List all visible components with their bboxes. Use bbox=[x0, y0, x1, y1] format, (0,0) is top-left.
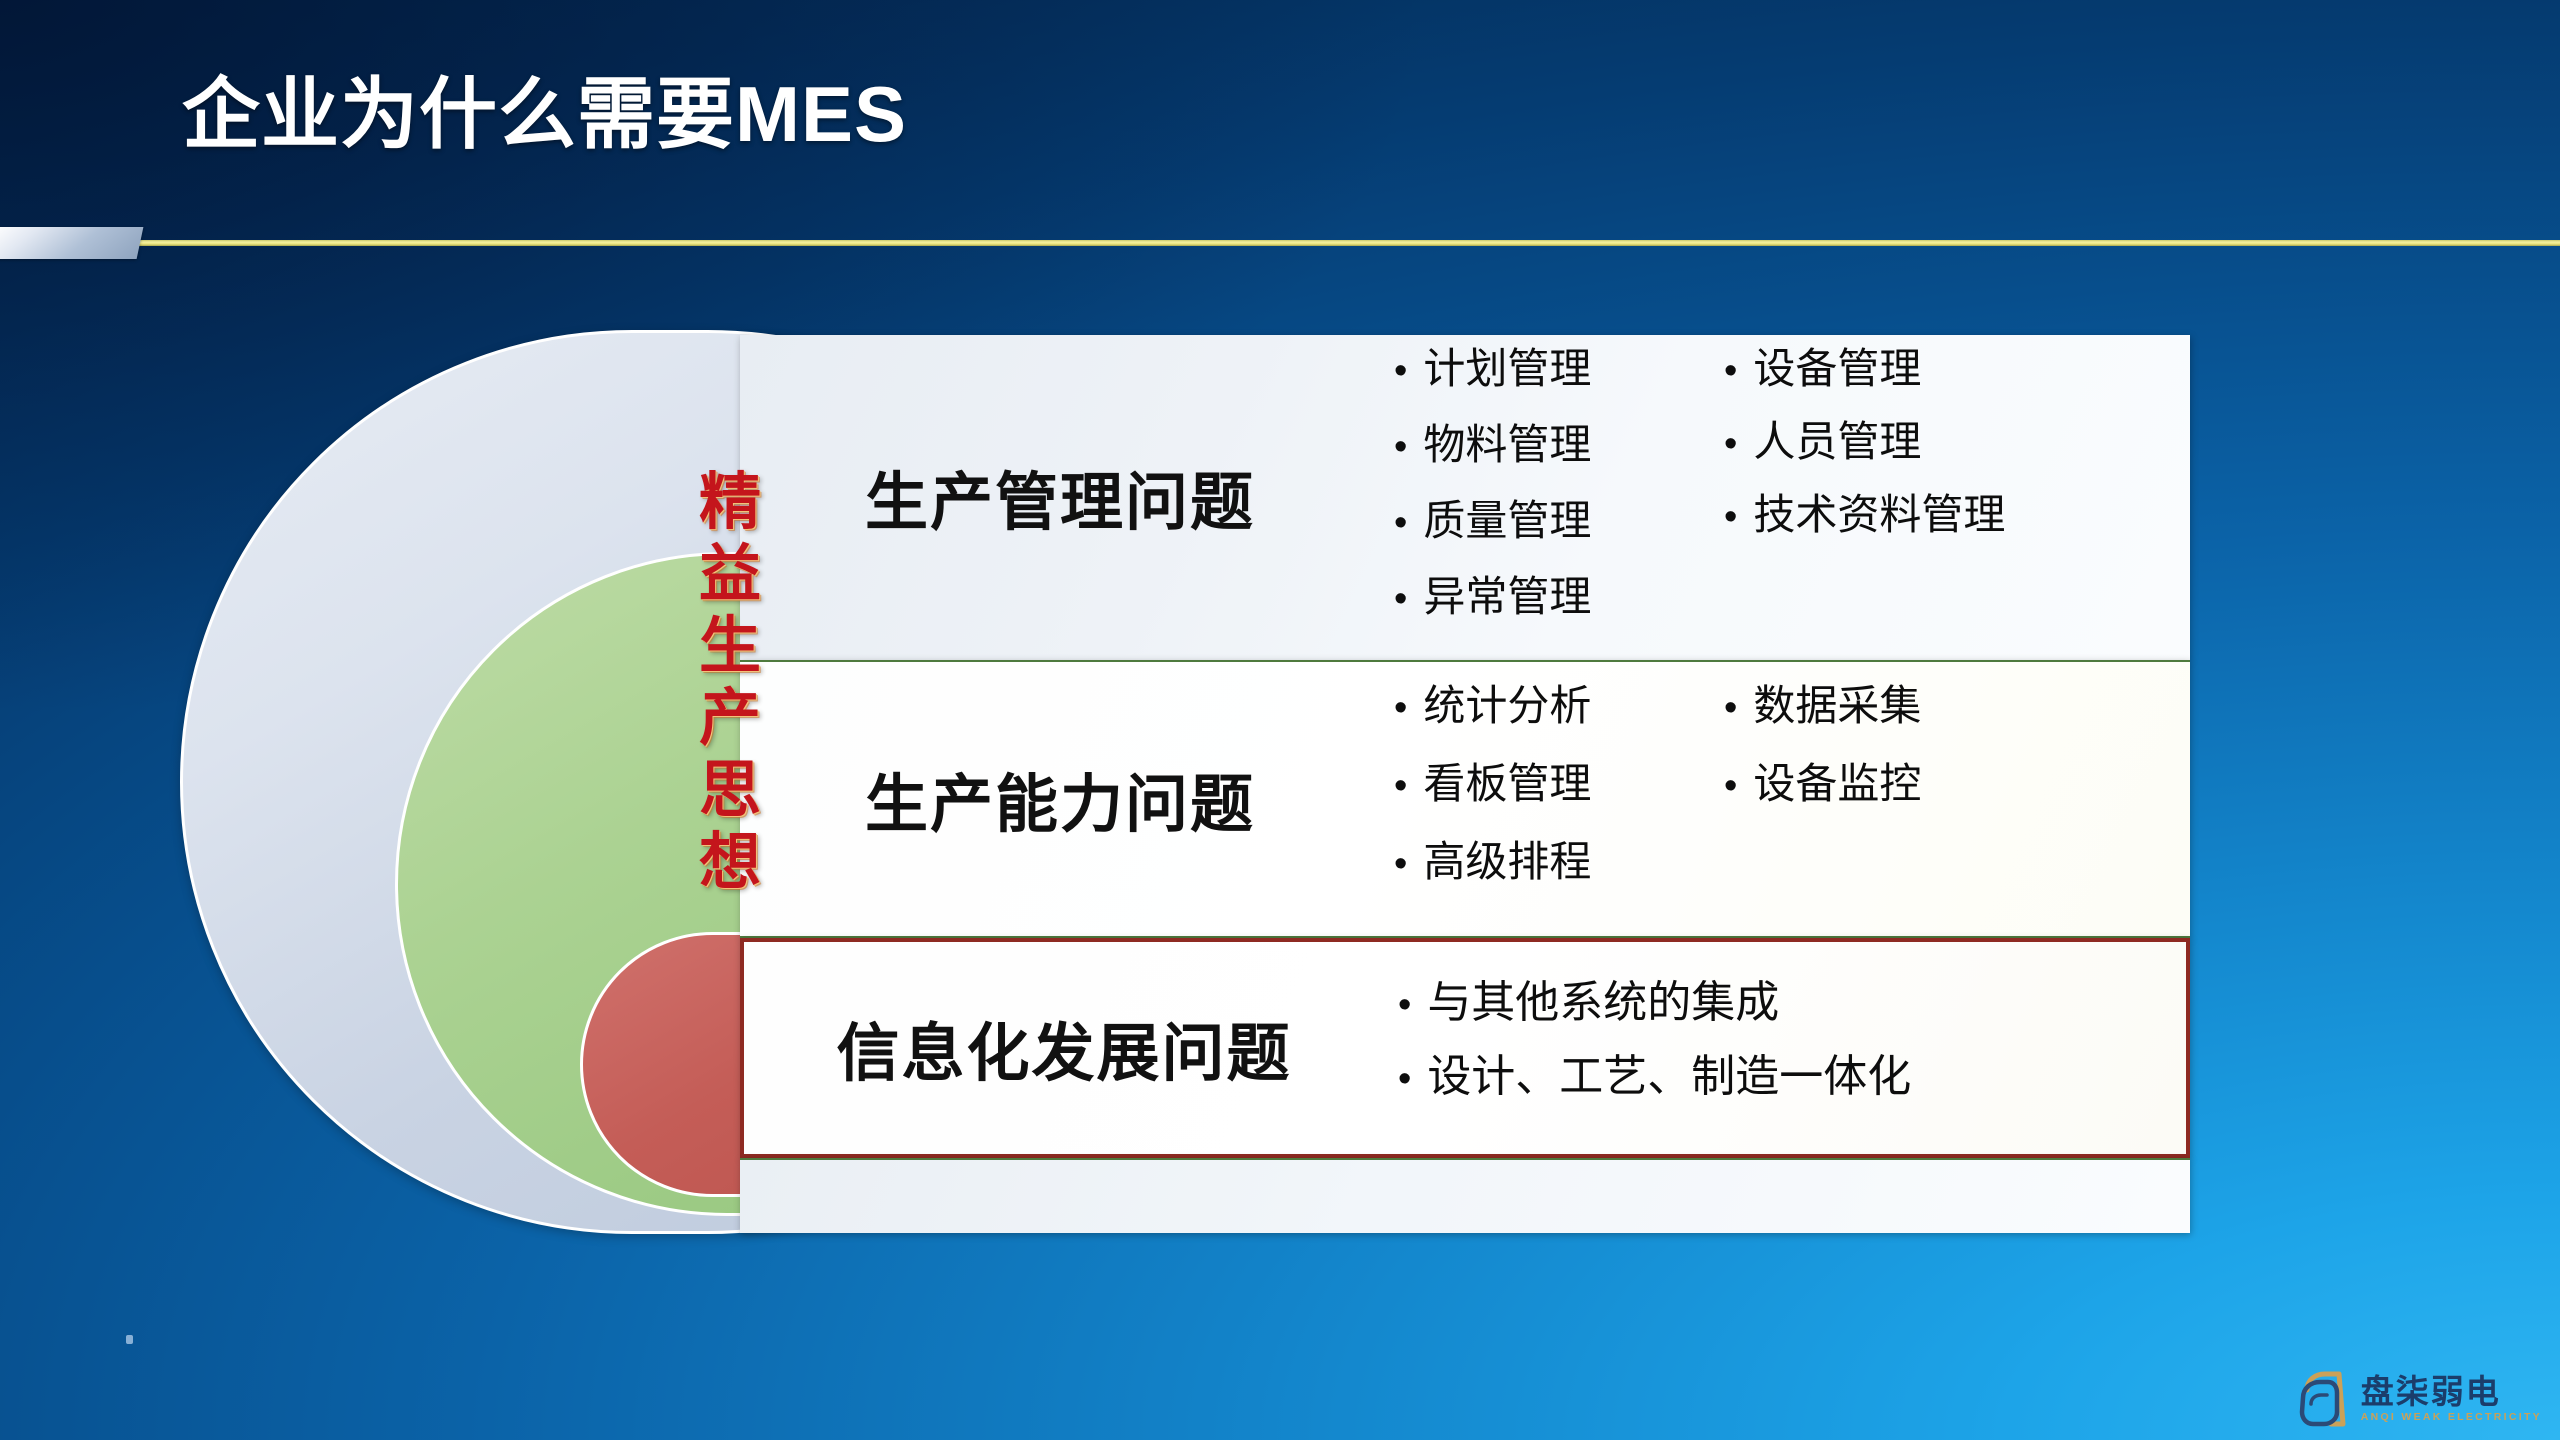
band-heading: 生产管理问题 bbox=[740, 452, 1380, 543]
list-item: • 数据采集 bbox=[1724, 685, 2164, 727]
list-item: • 计划管理 bbox=[1394, 348, 1724, 390]
list-item: • 与其他系统的集成 bbox=[1398, 981, 1911, 1025]
slogan-char: 精 bbox=[699, 472, 761, 534]
page-title: 企业为什么需要MES bbox=[182, 52, 907, 164]
band-item-column-left: • 与其他系统的集成 • 设计、工艺、制造一体化 bbox=[1398, 981, 1911, 1129]
bullet-icon: • bbox=[1724, 767, 1737, 805]
problem-band-stack: 生产管理问题 • 计划管理 • 物料管理 • 质量管理 bbox=[740, 335, 2190, 1233]
watermark-logo: 盘柒弱电 ANQI WEAK ELECTRICITY bbox=[2293, 1368, 2542, 1430]
list-item-label: 设计、工艺、制造一体化 bbox=[1427, 1055, 1911, 1099]
list-item-label: 技术资料管理 bbox=[1753, 494, 2005, 536]
list-item: • 人员管理 bbox=[1724, 421, 2164, 463]
problem-band-production-capacity[interactable]: 生产能力问题 • 统计分析 • 看板管理 • 高级排程 bbox=[740, 660, 2190, 938]
bullet-icon: • bbox=[1394, 689, 1407, 727]
lean-production-slogan: 精 益 生 产 思 想 bbox=[680, 472, 780, 894]
slogan-char: 益 bbox=[699, 544, 761, 606]
list-item: • 设计、工艺、制造一体化 bbox=[1398, 1055, 1911, 1099]
bullet-icon: • bbox=[1394, 352, 1407, 390]
mes-needs-diagram: 精 益 生 产 思 想 生产管理问题 • 计划管理 • 物料管理 bbox=[180, 330, 2190, 1240]
band-heading: 信息化发展问题 bbox=[744, 1003, 1384, 1094]
brand-name-en: ANQI WEAK ELECTRICITY bbox=[2361, 1412, 2542, 1423]
brand-text: 盘柒弱电 ANQI WEAK ELECTRICITY bbox=[2361, 1375, 2542, 1423]
list-item: • 异常管理 bbox=[1394, 576, 1724, 618]
divider-accent-block bbox=[0, 227, 143, 259]
band-heading: 生产能力问题 bbox=[740, 754, 1380, 845]
band-item-area: • 统计分析 • 看板管理 • 高级排程 • 数据采集 bbox=[1380, 679, 2190, 919]
list-item-label: 质量管理 bbox=[1423, 500, 1591, 542]
divider-line bbox=[120, 240, 2560, 246]
list-item: • 统计分析 bbox=[1394, 685, 1724, 727]
bullet-icon: • bbox=[1394, 504, 1407, 542]
list-item: • 设备监控 bbox=[1724, 763, 2164, 805]
bullet-icon: • bbox=[1398, 1060, 1411, 1098]
list-item: • 技术资料管理 bbox=[1724, 494, 2164, 536]
band-item-column-right: • 数据采集 • 设备监控 bbox=[1724, 685, 2164, 841]
slogan-char: 想 bbox=[699, 832, 761, 894]
list-item-label: 计划管理 bbox=[1423, 348, 1591, 390]
list-item: • 质量管理 bbox=[1394, 500, 1724, 542]
bullet-icon: • bbox=[1394, 845, 1407, 883]
bullet-icon: • bbox=[1724, 498, 1737, 536]
bullet-icon: • bbox=[1724, 352, 1737, 390]
list-item: • 看板管理 bbox=[1394, 763, 1724, 805]
stray-dot-artifact bbox=[126, 1335, 133, 1344]
list-item-label: 人员管理 bbox=[1753, 421, 1921, 463]
band-item-area: • 与其他系统的集成 • 设计、工艺、制造一体化 bbox=[1384, 967, 2186, 1129]
list-item-label: 数据采集 bbox=[1753, 685, 1921, 727]
problem-band-informatization[interactable]: 信息化发展问题 • 与其他系统的集成 • 设计、工艺、制造一体化 bbox=[740, 938, 2190, 1158]
list-item: • 高级排程 bbox=[1394, 841, 1724, 883]
list-item-label: 物料管理 bbox=[1423, 424, 1591, 466]
brand-name-cn: 盘柒弱电 bbox=[2361, 1375, 2542, 1408]
bullet-icon: • bbox=[1394, 428, 1407, 466]
bullet-icon: • bbox=[1724, 689, 1737, 727]
list-item-label: 设备监控 bbox=[1753, 763, 1921, 805]
band-item-column-right: • 设备管理 • 人员管理 • 技术资料管理 bbox=[1724, 348, 2164, 567]
band-item-area: • 计划管理 • 物料管理 • 质量管理 • 异常管理 bbox=[1380, 344, 2190, 652]
bullet-icon: • bbox=[1394, 580, 1407, 618]
slogan-char: 生 bbox=[699, 616, 761, 678]
bullet-icon: • bbox=[1394, 767, 1407, 805]
list-item-label: 与其他系统的集成 bbox=[1427, 981, 1779, 1025]
slogan-char: 产 bbox=[699, 688, 761, 750]
brand-mark-icon bbox=[2293, 1368, 2351, 1430]
list-item-label: 设备管理 bbox=[1753, 348, 1921, 390]
band-item-column-left: • 计划管理 • 物料管理 • 质量管理 • 异常管理 bbox=[1394, 348, 1724, 652]
title-divider bbox=[0, 222, 2560, 268]
slogan-char: 思 bbox=[699, 760, 761, 822]
band-footer-strip bbox=[740, 1158, 2190, 1233]
problem-band-production-management[interactable]: 生产管理问题 • 计划管理 • 物料管理 • 质量管理 bbox=[740, 335, 2190, 660]
band-item-column-left: • 统计分析 • 看板管理 • 高级排程 bbox=[1394, 685, 1724, 919]
list-item-label: 看板管理 bbox=[1423, 763, 1591, 805]
list-item-label: 统计分析 bbox=[1423, 685, 1591, 727]
list-item-label: 异常管理 bbox=[1423, 576, 1591, 618]
bullet-icon: • bbox=[1398, 986, 1411, 1024]
list-item: • 设备管理 bbox=[1724, 348, 2164, 390]
list-item-label: 高级排程 bbox=[1423, 841, 1591, 883]
list-item: • 物料管理 bbox=[1394, 424, 1724, 466]
bullet-icon: • bbox=[1724, 425, 1737, 463]
